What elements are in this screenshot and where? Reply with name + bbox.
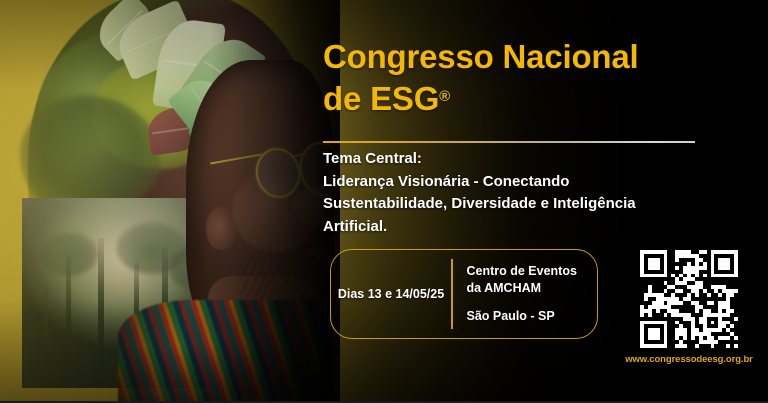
- title-line-1: Congresso Nacional: [323, 36, 723, 78]
- venue-line-2: da AMCHAM: [467, 280, 598, 297]
- venue-line-1: Centro de Eventos: [467, 263, 598, 280]
- theme-label: Tema Central:: [323, 148, 703, 171]
- theme-line-1: Liderança Visionária - Conectando: [323, 171, 703, 194]
- theme-block: Tema Central: Liderança Visionária - Con…: [323, 148, 703, 238]
- event-banner: Congresso Nacional de ESG® Tema Central:…: [0, 0, 768, 403]
- venue-name: Centro de Eventos da AMCHAM: [467, 263, 598, 298]
- event-dates: Dias 13 e 14/05/25: [331, 250, 451, 338]
- qr-block[interactable]: www.congressodeesg.org.br: [618, 244, 760, 365]
- qr-code-icon[interactable]: [640, 250, 738, 348]
- theme-line-3: Artificial.: [323, 216, 703, 239]
- registered-mark-icon: ®: [439, 88, 450, 105]
- page-title: Congresso Nacional de ESG®: [323, 36, 723, 120]
- venue-city: São Paulo - SP: [467, 308, 598, 325]
- event-info-box: Dias 13 e 14/05/25 Centro de Eventos da …: [330, 249, 598, 339]
- event-location: Centro de Eventos da AMCHAM São Paulo - …: [453, 250, 598, 338]
- theme-line-2: Sustentabilidade, Diversidade e Inteligê…: [323, 193, 703, 216]
- title-divider: [323, 141, 695, 143]
- title-line-2-text: de ESG: [323, 80, 439, 117]
- title-line-2: de ESG®: [323, 78, 723, 120]
- website-url[interactable]: www.congressodeesg.org.br: [618, 354, 760, 365]
